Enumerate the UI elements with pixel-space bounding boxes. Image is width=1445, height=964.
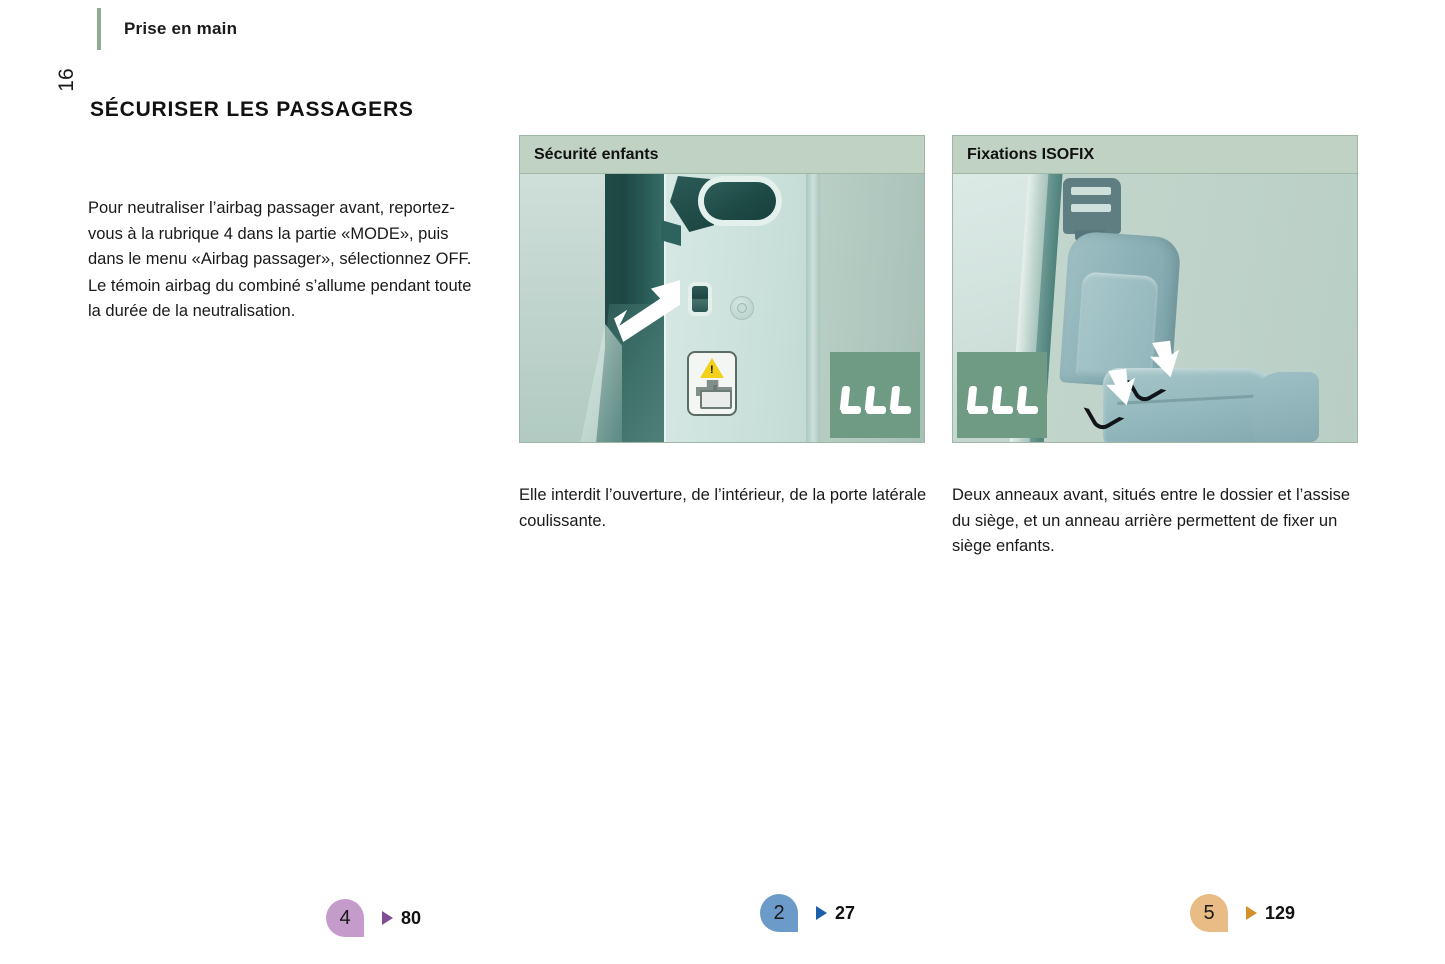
chevron-right-icon xyxy=(382,911,393,925)
chapter-badge[interactable]: 2 xyxy=(760,894,798,932)
door-latch-striker xyxy=(704,182,776,220)
head-restraint xyxy=(1063,178,1121,234)
panel-title-isofix: Fixations ISOFIX xyxy=(967,146,1094,164)
head-restraint-slot xyxy=(1071,187,1111,195)
cross-reference-chapter-2[interactable]: 2 27 xyxy=(760,893,855,933)
panel-isofix: Fixations ISOFIX xyxy=(952,135,1358,443)
chevron-right-icon xyxy=(816,906,827,920)
cross-reference-page[interactable]: 129 xyxy=(1265,903,1295,924)
intro-text: Pour neutraliser l’airbag passager avant… xyxy=(88,196,488,325)
seat-glyph-icon xyxy=(966,386,988,416)
page-number: 16 xyxy=(47,65,87,95)
figure-child-safety-lock xyxy=(520,174,924,442)
head-restraint-slot xyxy=(1071,204,1111,212)
running-head-rule xyxy=(97,8,101,50)
figure-isofix-anchors xyxy=(953,174,1357,442)
panel-title-child-safety: Sécurité enfants xyxy=(534,146,658,164)
panel-child-safety: Sécurité enfants xyxy=(519,135,925,443)
seat-backrest-panel xyxy=(1076,271,1159,380)
seat-glyph-icon xyxy=(1016,386,1038,416)
seat-glyph-icon xyxy=(839,386,861,416)
seat-row-badge-isofix xyxy=(957,352,1047,438)
cross-reference-page[interactable]: 27 xyxy=(835,903,855,924)
cross-reference-page[interactable]: 80 xyxy=(401,908,421,929)
intro-paragraph-1: Pour neutraliser l’airbag passager avant… xyxy=(88,196,488,273)
seat-cushion-bolster xyxy=(1253,372,1319,442)
cross-reference-chapter-5[interactable]: 5 129 xyxy=(1190,893,1295,933)
airbag-warning-sticker-icon xyxy=(687,351,737,416)
panel-header-child-safety: Sécurité enfants xyxy=(520,136,924,174)
caption-isofix: Deux anneaux avant, situés entre le doss… xyxy=(952,483,1362,560)
warning-triangle-icon xyxy=(700,358,724,378)
child-lock-switch-icon xyxy=(692,286,708,312)
seat-glyph-icon xyxy=(889,386,911,416)
chevron-right-icon xyxy=(1246,906,1257,920)
screw-icon xyxy=(730,296,754,320)
seat-glyph-icon xyxy=(991,386,1013,416)
chapter-badge[interactable]: 5 xyxy=(1190,894,1228,932)
cross-reference-chapter-4[interactable]: 4 80 xyxy=(326,898,421,938)
caption-child-safety: Elle interdit l’ouverture, de l’intérieu… xyxy=(519,483,929,534)
intro-paragraph-2: Le témoin airbag du combiné s’allume pen… xyxy=(88,274,488,325)
panel-header-isofix: Fixations ISOFIX xyxy=(953,136,1357,174)
running-head: Prise en main xyxy=(97,8,237,50)
page-title: SÉCURISER LES PASSAGERS xyxy=(90,98,414,122)
chapter-badge[interactable]: 4 xyxy=(326,899,364,937)
running-head-label: Prise en main xyxy=(124,19,237,39)
seat-row-badge-child-safety xyxy=(830,352,920,438)
sticker-base-pictogram xyxy=(700,390,732,409)
seat-glyph-icon xyxy=(864,386,886,416)
